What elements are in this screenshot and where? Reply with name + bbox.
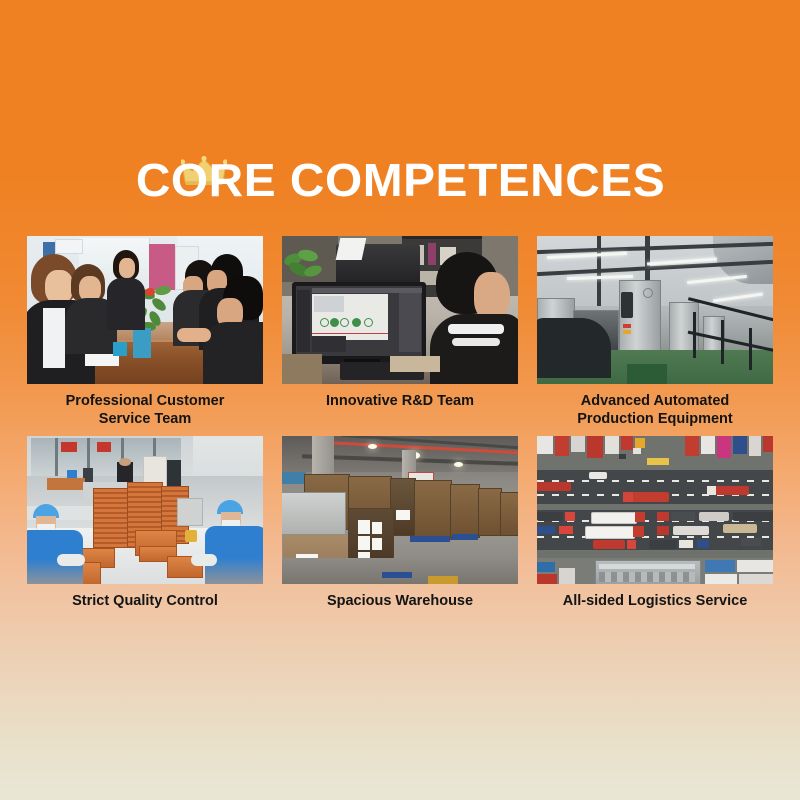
title-block: CORE COMPETENCES <box>0 150 800 210</box>
photo-warehouse <box>282 436 518 584</box>
competences-grid: Professional Customer Service Team <box>27 236 773 618</box>
card-caption: Strict Quality Control <box>27 592 263 610</box>
card-professional-customer-service-team[interactable]: Professional Customer Service Team <box>27 236 263 428</box>
photo-quality-control <box>27 436 263 584</box>
page-title: CORE COMPETENCES <box>135 150 664 210</box>
photo-customer-service-meeting <box>27 236 263 384</box>
card-caption: Innovative R&D Team <box>282 392 518 410</box>
photo-rd-designer <box>282 236 518 384</box>
card-caption: Advanced Automated Production Equipment <box>537 392 773 428</box>
card-caption: Spacious Warehouse <box>282 592 518 610</box>
designer-figure <box>430 252 518 384</box>
grid-row-bottom: Strict Quality Control <box>27 436 773 610</box>
card-strict-quality-control[interactable]: Strict Quality Control <box>27 436 263 610</box>
grid-row-top: Professional Customer Service Team <box>27 236 773 428</box>
card-spacious-warehouse[interactable]: Spacious Warehouse <box>282 436 518 610</box>
card-innovative-rd-team[interactable]: Innovative R&D Team <box>282 236 518 428</box>
card-caption: All-sided Logistics Service <box>537 592 773 610</box>
card-advanced-automated-production-equipment[interactable]: Advanced Automated Production Equipment <box>537 236 773 428</box>
photo-printing-presses <box>537 236 773 384</box>
card-caption: Professional Customer Service Team <box>27 392 263 428</box>
core-competences-banner: CORE COMPETENCES <box>0 0 800 800</box>
card-all-sided-logistics-service[interactable]: All-sided Logistics Service <box>537 436 773 610</box>
photo-logistics-aerial <box>537 436 773 584</box>
